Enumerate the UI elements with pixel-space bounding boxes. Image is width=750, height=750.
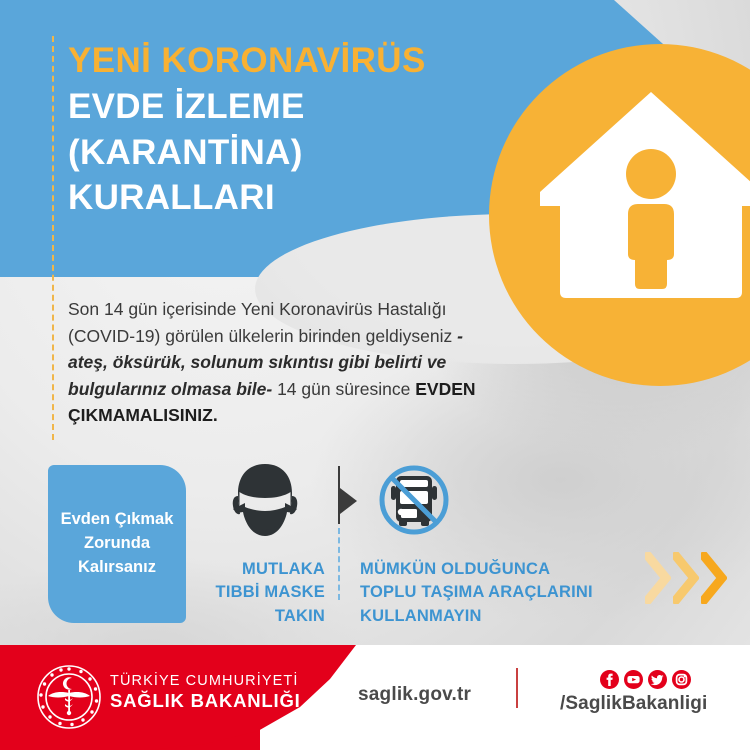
chevron-1 bbox=[645, 552, 671, 604]
callout-text: Evden Çıkmak Zorunda Kalırsanız bbox=[48, 508, 186, 580]
advice-item-mask: MUTLAKA TIBBİ MASKE TAKIN bbox=[205, 462, 325, 628]
headline-block: YENİ KORONAVİRÜS EVDE İZLEME (KARANTİNA)… bbox=[68, 40, 508, 221]
headline-line-3: (KARANTİNA) bbox=[68, 130, 508, 176]
headline-accent-line: YENİ KORONAVİRÜS bbox=[68, 40, 508, 81]
divider-dashed-line bbox=[338, 528, 340, 600]
body-paragraph: Son 14 gün içerisinde Yeni Koronavirüs H… bbox=[68, 296, 488, 429]
social-handle[interactable]: /SaglikBakanligi bbox=[560, 693, 707, 715]
social-icon-row bbox=[600, 670, 691, 689]
facebook-icon[interactable] bbox=[600, 670, 619, 689]
callout-box: Evden Çıkmak Zorunda Kalırsanız bbox=[48, 465, 186, 623]
twitter-icon[interactable] bbox=[648, 670, 667, 689]
youtube-icon[interactable] bbox=[624, 670, 643, 689]
masked-face-icon bbox=[205, 462, 325, 542]
instagram-icon[interactable] bbox=[672, 670, 691, 689]
chevron-2 bbox=[673, 552, 699, 604]
body-text-part1: Son 14 gün içerisinde Yeni Koronavirüs H… bbox=[68, 299, 457, 346]
website-link[interactable]: saglik.gov.tr bbox=[358, 684, 471, 706]
footer-separator bbox=[516, 668, 518, 708]
ministry-line-1: TÜRKİYE CUMHURİYETİ bbox=[110, 672, 301, 690]
house-with-person-icon bbox=[536, 86, 750, 308]
dashed-guide-line bbox=[52, 36, 54, 440]
ministry-name: TÜRKİYE CUMHURİYETİ SAĞLIK BAKANLIĞI bbox=[110, 672, 301, 713]
headline-line-4: KURALLARI bbox=[68, 175, 508, 221]
advice-item-transport: MÜMKÜN OLDUĞUNCA TOPLU TAŞIMA ARAÇLARINI… bbox=[360, 462, 610, 628]
triangle-arrow-icon bbox=[340, 488, 357, 514]
triple-chevron-right-icon bbox=[645, 552, 727, 604]
headline-line-2: EVDE İZLEME bbox=[68, 84, 508, 130]
ministry-of-health-emblem bbox=[36, 664, 102, 730]
advice-label-mask: MUTLAKA TIBBİ MASKE TAKIN bbox=[205, 558, 325, 628]
body-text-part3: 14 gün süresince bbox=[272, 379, 415, 399]
chevron-3 bbox=[701, 552, 727, 604]
infographic-poster: YENİ KORONAVİRÜS EVDE İZLEME (KARANTİNA)… bbox=[0, 0, 750, 750]
ministry-line-2: SAĞLIK BAKANLIĞI bbox=[110, 690, 301, 713]
advice-label-transport: MÜMKÜN OLDUĞUNCA TOPLU TAŞIMA ARAÇLARINI… bbox=[360, 558, 610, 628]
no-public-transport-icon bbox=[360, 462, 610, 542]
